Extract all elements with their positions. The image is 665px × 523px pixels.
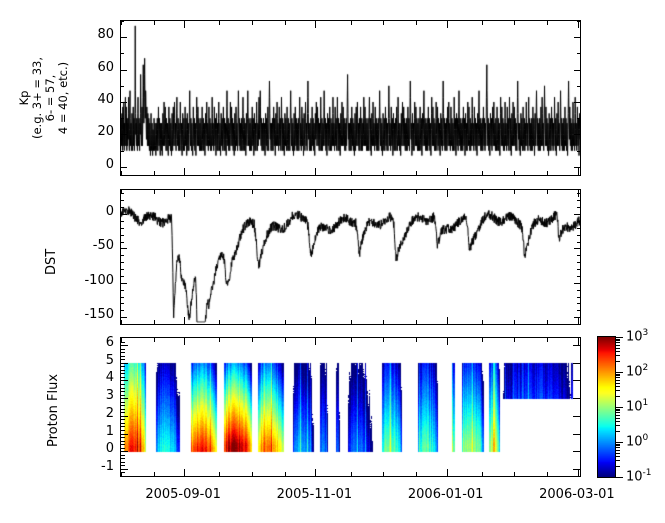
- x-minor-tick: [416, 472, 417, 476]
- kp-ytick: [574, 102, 580, 103]
- x-minor-tick: [154, 171, 155, 175]
- dst-minor-ytick: [121, 310, 124, 311]
- colorbar-minor-tick: [616, 355, 620, 356]
- proton-flux-minor-ytick: [121, 352, 125, 353]
- colorbar-minor-tick: [616, 425, 620, 426]
- proton-flux-minor-ytick: [121, 395, 125, 396]
- dst-minor-ytick: [121, 235, 124, 236]
- colorbar-tick-label: 102: [626, 363, 648, 379]
- proton-flux-ytick-label: 1: [72, 424, 114, 439]
- x-axis-tick-label: 2006-01-01: [391, 487, 501, 502]
- x-minor-tick: [351, 190, 352, 194]
- x-minor-tick: [351, 472, 352, 476]
- colorbar-label-exponent: 1: [643, 398, 649, 408]
- colorbar-tick-label: 10-1: [626, 468, 652, 484]
- x-minor-tick: [383, 190, 384, 194]
- x-minor-tick: [121, 320, 122, 324]
- colorbar-label-exponent: -1: [643, 468, 652, 478]
- colorbar-minor-tick: [616, 460, 620, 461]
- proton-flux-minor-ytick: [121, 441, 125, 442]
- dst-minor-ytick: [577, 276, 580, 277]
- kp-axis-label: Kp (e.g. 3+ = 33, 6- = 57, 4 = 40, etc.): [18, 48, 118, 148]
- x-major-tick: [578, 338, 579, 345]
- proton-flux-ytick: [121, 451, 128, 452]
- proton-flux-ytick: [573, 451, 580, 452]
- colorbar-minor-tick: [616, 351, 620, 352]
- x-minor-tick: [219, 190, 220, 194]
- kp-ytick: [121, 70, 127, 71]
- proton-flux-panel: [120, 337, 581, 477]
- dst-axis-label: DST: [44, 249, 59, 275]
- proton-flux-axis-label: Proton Flux: [46, 374, 61, 447]
- x-minor-tick: [416, 190, 417, 194]
- dst-ytick-label: -150: [56, 307, 114, 322]
- dst-ytick: [574, 214, 580, 215]
- colorbar-minor-tick: [616, 339, 620, 340]
- kp-ytick-label: 0: [70, 157, 114, 172]
- proton-flux-minor-ytick: [121, 373, 125, 374]
- proton-flux-minor-ytick: [121, 359, 125, 360]
- dst-minor-ytick: [121, 242, 124, 243]
- proton-flux-minor-ytick: [121, 462, 125, 463]
- proton-flux-ytick: [121, 380, 128, 381]
- figure-root: 020406080 Kp (e.g. 3+ = 33, 6- = 57, 4 =…: [0, 0, 665, 523]
- kp-minor-ytick: [577, 86, 580, 87]
- x-major-tick: [184, 190, 185, 197]
- proton-flux-ytick: [121, 469, 128, 470]
- proton-flux-minor-ytick: [121, 448, 125, 449]
- x-minor-tick: [416, 171, 417, 175]
- x-major-tick: [184, 469, 185, 476]
- dst-ytick: [574, 317, 580, 318]
- x-major-tick: [578, 168, 579, 175]
- colorbar-minor-tick: [616, 456, 620, 457]
- x-minor-tick: [252, 472, 253, 476]
- proton-flux-ytick: [573, 416, 580, 417]
- x-minor-tick: [219, 338, 220, 342]
- dst-ytick: [121, 248, 127, 249]
- x-minor-tick: [121, 171, 122, 175]
- kp-ytick: [574, 167, 580, 168]
- dst-ytick-label: -100: [56, 273, 114, 288]
- dst-minor-ytick: [577, 242, 580, 243]
- x-minor-tick: [154, 338, 155, 342]
- x-major-tick: [184, 168, 185, 175]
- x-minor-tick: [514, 338, 515, 342]
- proton-flux-minor-ytick: [121, 412, 125, 413]
- colorbar-label-exponent: 3: [643, 328, 649, 338]
- x-minor-tick: [416, 338, 417, 342]
- x-minor-tick: [383, 171, 384, 175]
- x-major-tick: [447, 469, 448, 476]
- proton-flux-minor-ytick: [121, 349, 125, 350]
- proton-flux-ytick-label: 4: [72, 370, 114, 385]
- colorbar-minor-tick: [616, 445, 620, 446]
- colorbar-label-exponent: 2: [643, 363, 649, 373]
- dst-minor-ytick: [121, 276, 124, 277]
- proton-flux-ytick: [121, 398, 128, 399]
- proton-flux-minor-ytick: [121, 366, 125, 367]
- dst-minor-ytick: [577, 221, 580, 222]
- x-minor-tick: [482, 21, 483, 25]
- x-minor-tick: [416, 21, 417, 25]
- proton-flux-minor-ytick: [121, 405, 125, 406]
- proton-flux-ytick: [573, 380, 580, 381]
- x-axis-tick-label: 2005-09-01: [128, 487, 238, 502]
- proton-flux-minor-ytick: [121, 430, 125, 431]
- colorbar-label-mantissa: 10: [626, 329, 643, 344]
- dst-minor-ytick: [577, 207, 580, 208]
- dst-minor-ytick: [121, 200, 124, 201]
- proton-flux-tick-layer: [121, 338, 580, 476]
- kp-ytick: [121, 102, 127, 103]
- proton-flux-minor-ytick: [121, 455, 125, 456]
- dst-ytick-label: -50: [56, 238, 114, 253]
- kp-minor-ytick: [577, 53, 580, 54]
- dst-minor-ytick: [577, 290, 580, 291]
- x-minor-tick: [547, 338, 548, 342]
- x-axis-tick-label: 2006-03-01: [522, 487, 632, 502]
- kp-minor-ytick: [121, 86, 124, 87]
- kp-minor-ytick: [121, 53, 124, 54]
- colorbar-minor-tick: [616, 361, 620, 362]
- x-minor-tick: [547, 171, 548, 175]
- x-minor-tick: [285, 472, 286, 476]
- x-minor-tick: [252, 171, 253, 175]
- x-minor-tick: [514, 190, 515, 194]
- colorbar-minor-tick: [616, 386, 620, 387]
- colorbar-label-mantissa: 10: [626, 364, 643, 379]
- kp-ytick: [574, 37, 580, 38]
- kp-minor-ytick: [577, 151, 580, 152]
- dst-minor-ytick: [121, 290, 124, 291]
- x-minor-tick: [514, 320, 515, 324]
- dst-ytick: [574, 248, 580, 249]
- x-major-tick: [578, 190, 579, 197]
- colorbar-label-mantissa: 10: [626, 399, 643, 414]
- colorbar-minor-tick: [616, 421, 620, 422]
- proton-flux-minor-ytick: [121, 419, 125, 420]
- x-minor-tick: [383, 21, 384, 25]
- colorbar-minor-tick: [616, 447, 620, 448]
- x-minor-tick: [154, 21, 155, 25]
- dst-minor-ytick: [121, 221, 124, 222]
- kp-ytick: [121, 167, 127, 168]
- proton-flux-ytick-label: 5: [72, 353, 114, 368]
- colorbar-label-mantissa: 10: [626, 469, 643, 484]
- x-minor-tick: [154, 190, 155, 194]
- proton-flux-minor-ytick: [121, 377, 125, 378]
- proton-flux-ytick: [573, 363, 580, 364]
- x-minor-tick: [252, 21, 253, 25]
- x-minor-tick: [351, 338, 352, 342]
- x-minor-tick: [547, 190, 548, 194]
- colorbar-minor-tick: [616, 453, 620, 454]
- colorbar-tick-label: 103: [626, 328, 648, 344]
- x-major-tick: [315, 21, 316, 28]
- proton-flux-ytick-label: 2: [72, 406, 114, 421]
- colorbar-minor-tick: [616, 374, 620, 375]
- colorbar-minor-tick: [616, 409, 620, 410]
- colorbar-minor-tick: [616, 415, 620, 416]
- proton-flux-ytick: [121, 363, 128, 364]
- proton-flux-minor-ytick: [121, 437, 125, 438]
- x-minor-tick: [383, 338, 384, 342]
- x-minor-tick: [154, 320, 155, 324]
- x-major-tick: [184, 317, 185, 324]
- x-minor-tick: [252, 320, 253, 324]
- proton-flux-ytick: [121, 416, 128, 417]
- x-minor-tick: [219, 472, 220, 476]
- x-major-tick: [184, 21, 185, 28]
- dst-minor-ytick: [577, 269, 580, 270]
- x-minor-tick: [351, 171, 352, 175]
- x-minor-tick: [351, 21, 352, 25]
- colorbar-minor-tick: [616, 348, 620, 349]
- proton-flux-ytick: [573, 398, 580, 399]
- x-major-tick: [447, 21, 448, 28]
- dst-ytick: [121, 317, 127, 318]
- dst-panel: [120, 189, 581, 325]
- x-major-tick: [184, 338, 185, 345]
- colorbar-minor-tick: [616, 450, 620, 451]
- x-minor-tick: [121, 338, 122, 342]
- x-major-tick: [578, 469, 579, 476]
- kp-ytick: [574, 134, 580, 135]
- dst-minor-ytick: [121, 228, 124, 229]
- dst-minor-ytick: [121, 303, 124, 304]
- kp-ytick-label: 80: [70, 27, 114, 42]
- proton-flux-ytick: [121, 345, 128, 346]
- proton-flux-minor-ytick: [121, 465, 125, 466]
- proton-flux-ytick-label: 3: [72, 388, 114, 403]
- x-major-tick: [447, 317, 448, 324]
- proton-flux-minor-ytick: [121, 458, 125, 459]
- x-major-tick: [447, 168, 448, 175]
- proton-flux-ytick-label: 6: [72, 335, 114, 350]
- x-minor-tick: [351, 320, 352, 324]
- dst-minor-ytick: [577, 200, 580, 201]
- proton-flux-minor-ytick: [121, 423, 125, 424]
- colorbar-minor-tick: [616, 340, 620, 341]
- kp-minor-ytick: [121, 118, 124, 119]
- x-minor-tick: [154, 472, 155, 476]
- x-major-tick: [315, 168, 316, 175]
- dst-minor-ytick: [121, 262, 124, 263]
- x-minor-tick: [547, 472, 548, 476]
- x-minor-tick: [514, 472, 515, 476]
- proton-flux-minor-ytick: [121, 444, 125, 445]
- dst-minor-ytick: [577, 228, 580, 229]
- x-major-tick: [315, 190, 316, 197]
- colorbar-major-tick: [616, 477, 623, 478]
- colorbar-minor-tick: [616, 444, 620, 445]
- dst-minor-ytick: [121, 255, 124, 256]
- kp-panel: [120, 20, 581, 176]
- dst-minor-ytick: [121, 207, 124, 208]
- proton-flux-ytick: [121, 434, 128, 435]
- colorbar-minor-tick: [616, 383, 620, 384]
- proton-flux-minor-ytick: [121, 384, 125, 385]
- x-minor-tick: [219, 320, 220, 324]
- dst-minor-ytick: [121, 297, 124, 298]
- x-minor-tick: [482, 320, 483, 324]
- colorbar-tick-label: 101: [626, 398, 648, 414]
- colorbar-minor-tick: [616, 431, 620, 432]
- proton-flux-minor-ytick: [121, 402, 125, 403]
- colorbar: [597, 336, 616, 478]
- x-minor-tick: [482, 190, 483, 194]
- x-minor-tick: [383, 472, 384, 476]
- kp-minor-ytick: [121, 151, 124, 152]
- x-minor-tick: [416, 320, 417, 324]
- dst-minor-ytick: [577, 235, 580, 236]
- colorbar-minor-tick: [616, 396, 620, 397]
- x-minor-tick: [252, 190, 253, 194]
- x-major-tick: [315, 317, 316, 324]
- dst-minor-ytick: [577, 262, 580, 263]
- x-minor-tick: [482, 171, 483, 175]
- x-major-tick: [578, 21, 579, 28]
- colorbar-minor-tick: [616, 412, 620, 413]
- x-minor-tick: [219, 21, 220, 25]
- colorbar-minor-tick: [616, 466, 620, 467]
- x-minor-tick: [482, 472, 483, 476]
- dst-ytick-label: 0: [56, 204, 114, 219]
- colorbar-label-exponent: 0: [643, 433, 649, 443]
- dst-ytick: [574, 283, 580, 284]
- kp-ytick: [121, 37, 127, 38]
- colorbar-minor-tick: [616, 377, 620, 378]
- proton-flux-minor-ytick: [121, 356, 125, 357]
- colorbar-minor-tick: [616, 342, 620, 343]
- colorbar-label-mantissa: 10: [626, 434, 643, 449]
- dst-minor-ytick: [577, 310, 580, 311]
- proton-flux-minor-ytick: [121, 391, 125, 392]
- x-minor-tick: [252, 338, 253, 342]
- proton-flux-ytick: [573, 434, 580, 435]
- x-minor-tick: [285, 171, 286, 175]
- x-major-tick: [315, 338, 316, 345]
- colorbar-gradient: [598, 337, 615, 477]
- dst-tick-layer: [121, 190, 580, 324]
- dst-minor-ytick: [577, 303, 580, 304]
- x-minor-tick: [219, 171, 220, 175]
- x-minor-tick: [547, 320, 548, 324]
- x-minor-tick: [547, 21, 548, 25]
- colorbar-minor-tick: [616, 345, 620, 346]
- dst-ytick: [121, 283, 127, 284]
- proton-flux-ytick: [573, 345, 580, 346]
- proton-flux-ytick-label: -1: [72, 459, 114, 474]
- proton-flux-minor-ytick: [121, 388, 125, 389]
- x-minor-tick: [514, 21, 515, 25]
- x-minor-tick: [383, 320, 384, 324]
- x-major-tick: [447, 338, 448, 345]
- x-major-tick: [447, 190, 448, 197]
- proton-flux-minor-ytick: [121, 409, 125, 410]
- colorbar-minor-tick: [616, 375, 620, 376]
- x-major-tick: [315, 469, 316, 476]
- x-minor-tick: [121, 21, 122, 25]
- x-axis-tick-label: 2005-11-01: [259, 487, 369, 502]
- x-minor-tick: [514, 171, 515, 175]
- x-major-tick: [578, 317, 579, 324]
- proton-flux-minor-ytick: [121, 426, 125, 427]
- kp-ytick: [574, 70, 580, 71]
- colorbar-minor-tick: [616, 380, 620, 381]
- kp-axis-label-line4: 4 = 40, etc.): [57, 48, 70, 148]
- dst-minor-ytick: [577, 297, 580, 298]
- x-minor-tick: [121, 472, 122, 476]
- dst-ytick: [121, 214, 127, 215]
- proton-flux-minor-ytick: [121, 370, 125, 371]
- kp-ytick: [121, 134, 127, 135]
- x-minor-tick: [285, 320, 286, 324]
- dst-minor-ytick: [121, 269, 124, 270]
- x-minor-tick: [285, 190, 286, 194]
- kp-tick-layer: [121, 21, 580, 175]
- colorbar-minor-tick: [616, 418, 620, 419]
- x-minor-tick: [121, 190, 122, 194]
- colorbar-tick-label: 100: [626, 433, 648, 449]
- x-minor-tick: [285, 338, 286, 342]
- dst-minor-ytick: [577, 255, 580, 256]
- x-minor-tick: [482, 338, 483, 342]
- colorbar-minor-tick: [616, 410, 620, 411]
- proton-flux-ytick-label: 0: [72, 441, 114, 456]
- colorbar-minor-tick: [616, 390, 620, 391]
- x-minor-tick: [285, 21, 286, 25]
- kp-minor-ytick: [577, 118, 580, 119]
